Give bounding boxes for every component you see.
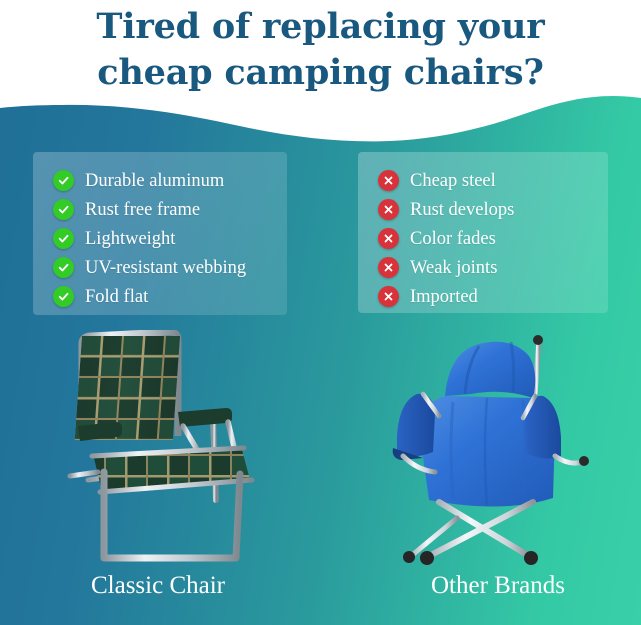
cons-list: Cheap steel Rust develops Color fades [368,166,598,311]
other-brands-chair-caption: Other Brands [378,571,618,601]
header-wave-divider [0,0,641,160]
list-item-label: Cheap steel [410,171,496,191]
check-circle-icon [53,199,74,220]
classic-chair-image [64,330,314,568]
list-item: Color fades [368,224,598,253]
check-circle-icon [53,286,74,307]
list-item-label: Weak joints [410,258,497,278]
list-item-label: UV-resistant webbing [85,258,246,278]
infographic-root: Tired of replacing your cheap camping ch… [0,0,641,625]
cross-circle-icon [378,286,399,307]
list-item-label: Imported [410,287,478,307]
list-item: Rust free frame [43,195,277,224]
list-item: Cheap steel [368,166,598,195]
check-circle-icon [53,257,74,278]
classic-chair-caption: Classic Chair [38,571,278,601]
check-circle-icon [53,170,74,191]
list-item: Lightweight [43,224,277,253]
cross-circle-icon [378,257,399,278]
list-item: Imported [368,282,598,311]
other-brands-chair-image [383,330,611,568]
list-item-label: Fold flat [85,287,148,307]
list-item: Durable aluminum [43,166,277,195]
list-item-label: Lightweight [85,229,175,249]
list-item-label: Durable aluminum [85,171,224,191]
pros-list: Durable aluminum Rust free frame Lightwe… [43,166,277,311]
cons-panel: Cheap steel Rust develops Color fades [358,152,608,313]
list-item: Fold flat [43,282,277,311]
cross-circle-icon [378,199,399,220]
list-item: UV-resistant webbing [43,253,277,282]
check-circle-icon [53,228,74,249]
list-item: Weak joints [368,253,598,282]
pros-panel: Durable aluminum Rust free frame Lightwe… [33,152,287,315]
list-item-label: Rust develops [410,200,514,220]
list-item: Rust develops [368,195,598,224]
list-item-label: Color fades [410,229,496,249]
list-item-label: Rust free frame [85,200,200,220]
cross-circle-icon [378,170,399,191]
cross-circle-icon [378,228,399,249]
